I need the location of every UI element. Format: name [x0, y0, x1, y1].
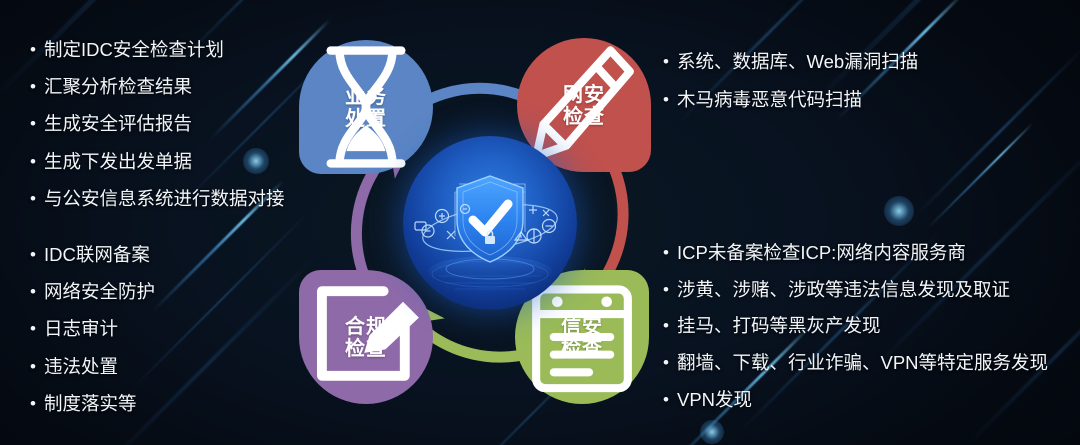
list-item-label: 违法处置: [44, 357, 118, 378]
bullet-glyph: •: [30, 245, 44, 264]
list-item-label: 翻墙、下载、行业诈骗、VPN等特定服务发现: [677, 353, 1048, 374]
list-item-label: 网络安全防护: [44, 282, 155, 303]
list-item: • VPN发现: [663, 390, 1048, 411]
bullet-glyph: •: [30, 40, 44, 59]
list-item-label: 制定IDC安全检查计划: [44, 40, 224, 61]
streak: [131, 212, 309, 390]
shield-check-icon: [403, 136, 577, 310]
list-item: • 涉黄、涉赌、涉政等违法信息发现及取证: [663, 280, 1048, 301]
bullet-glyph: •: [30, 282, 44, 301]
list-item: • 网络安全防护: [30, 282, 155, 303]
list-item-label: 与公安信息系统进行数据对接: [44, 189, 285, 210]
streak: [914, 46, 1080, 218]
list-item-label: 汇聚分析检查结果: [44, 77, 192, 98]
bullet-glyph: •: [30, 152, 44, 171]
list-item-label: 挂马、打码等黑灰产发现: [677, 316, 881, 337]
list-item-label: 生成安全评估报告: [44, 114, 192, 135]
list-bottom-right: • ICP未备案检查ICP:网络内容服务商 • 涉黄、涉赌、涉政等违法信息发现及…: [663, 243, 1048, 427]
list-bottom-left: • IDC联网备案 • 网络安全防护 • 日志审计 • 违法处置 • 制度落实等: [30, 245, 155, 431]
list-item: • 日志审计: [30, 319, 155, 340]
list-top-right: • 系统、数据库、Web漏洞扫描 • 木马病毒恶意代码扫描: [663, 52, 918, 127]
list-top-left: • 制定IDC安全检查计划 • 汇聚分析检查结果 • 生成安全评估报告 • 生成…: [30, 40, 285, 226]
list-item: • IDC联网备案: [30, 245, 155, 266]
list-item: • 木马病毒恶意代码扫描: [663, 90, 918, 111]
diagram-canvas: • 制定IDC安全检查计划 • 汇聚分析检查结果 • 生成安全评估报告 • 生成…: [0, 0, 1080, 445]
bullet-glyph: •: [30, 319, 44, 338]
list-item-label: 生成下发出发单据: [44, 152, 192, 173]
list-item-label: ICP未备案检查ICP:网络内容服务商: [677, 243, 966, 264]
bullet-glyph: •: [30, 357, 44, 376]
list-item: • ICP未备案检查ICP:网络内容服务商: [663, 243, 1048, 264]
cycle-hub: [403, 136, 577, 310]
list-item: • 系统、数据库、Web漏洞扫描: [663, 52, 918, 73]
bullet-glyph: •: [30, 189, 44, 208]
bullet-glyph: •: [30, 394, 44, 413]
list-item: • 汇聚分析检查结果: [30, 77, 285, 98]
list-item-label: IDC联网备案: [44, 245, 150, 266]
list-item: • 制定IDC安全检查计划: [30, 40, 285, 61]
cycle-diagram: 业务 处置 网安 检查: [285, 18, 695, 428]
list-item: • 生成安全评估报告: [30, 114, 285, 135]
list-item-label: 涉黄、涉赌、涉政等违法信息发现及取证: [677, 280, 1010, 301]
bullet-glyph: •: [30, 114, 44, 133]
list-item: • 制度落实等: [30, 394, 155, 415]
list-item: • 与公安信息系统进行数据对接: [30, 189, 285, 210]
list-item: • 违法处置: [30, 357, 155, 378]
streak: [926, 122, 1033, 229]
bullet-glyph: •: [30, 77, 44, 96]
list-item: • 挂马、打码等黑灰产发现: [663, 316, 1048, 337]
list-item-label: 日志审计: [44, 319, 118, 340]
glow-dot: [884, 196, 914, 226]
list-item-label: 系统、数据库、Web漏洞扫描: [677, 52, 918, 73]
list-item-label: 木马病毒恶意代码扫描: [677, 90, 862, 111]
list-item: • 生成下发出发单据: [30, 152, 285, 173]
list-item-label: 制度落实等: [44, 394, 137, 415]
list-item: • 翻墙、下载、行业诈骗、VPN等特定服务发现: [663, 353, 1048, 374]
